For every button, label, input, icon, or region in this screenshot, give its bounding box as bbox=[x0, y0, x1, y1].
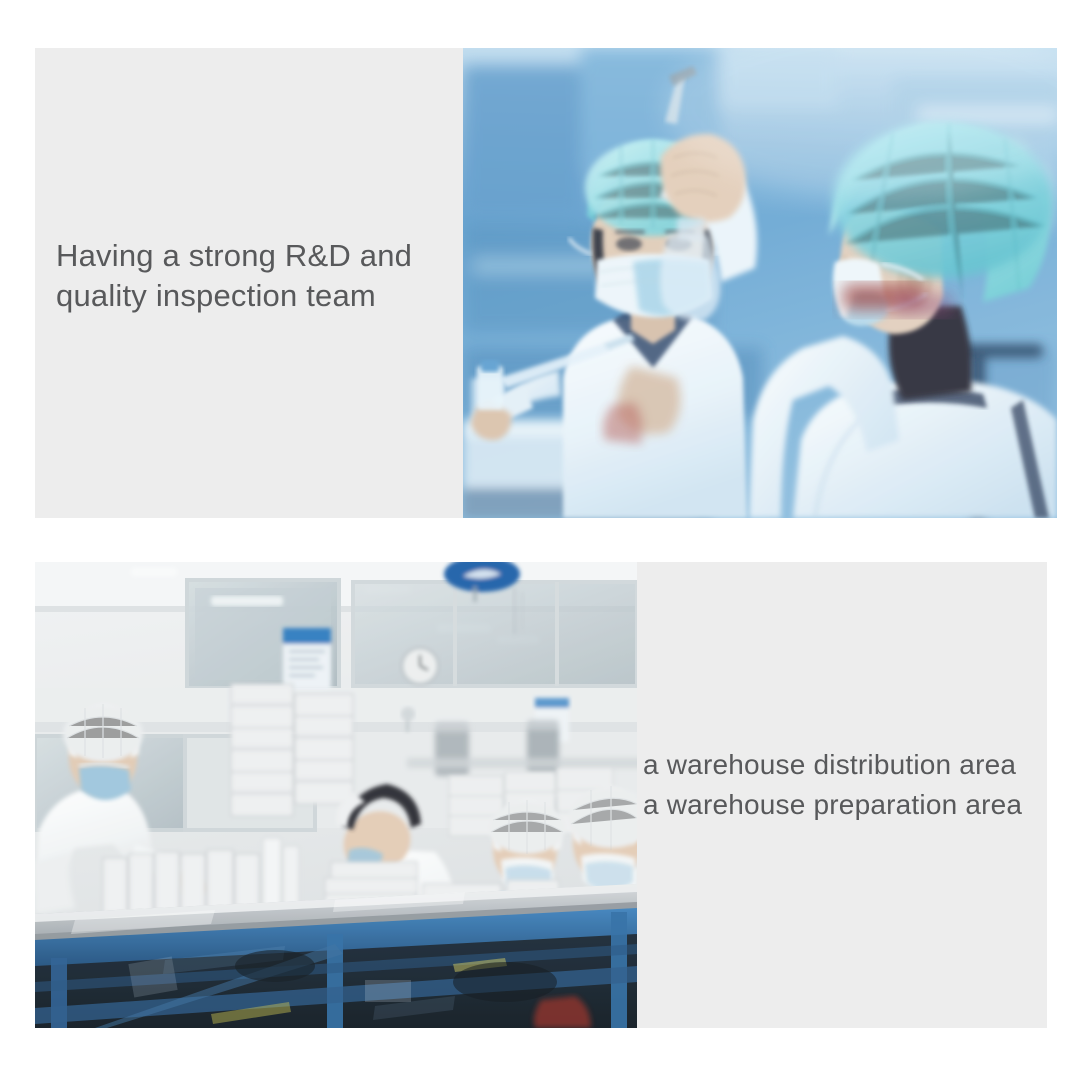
section-warehouse-areas: a warehouse distribution area a warehous… bbox=[35, 562, 1047, 1028]
caption-rnd-quality: Having a strong R&D and quality inspecti… bbox=[56, 236, 456, 317]
lab-technicians-photo bbox=[463, 48, 1057, 518]
section-rnd-quality: Having a strong R&D and quality inspecti… bbox=[35, 48, 1057, 518]
warehouse-packing-photo bbox=[35, 562, 637, 1028]
caption-warehouse-areas: a warehouse distribution area a warehous… bbox=[643, 745, 1053, 825]
slide-canvas: Having a strong R&D and quality inspecti… bbox=[0, 0, 1080, 1080]
